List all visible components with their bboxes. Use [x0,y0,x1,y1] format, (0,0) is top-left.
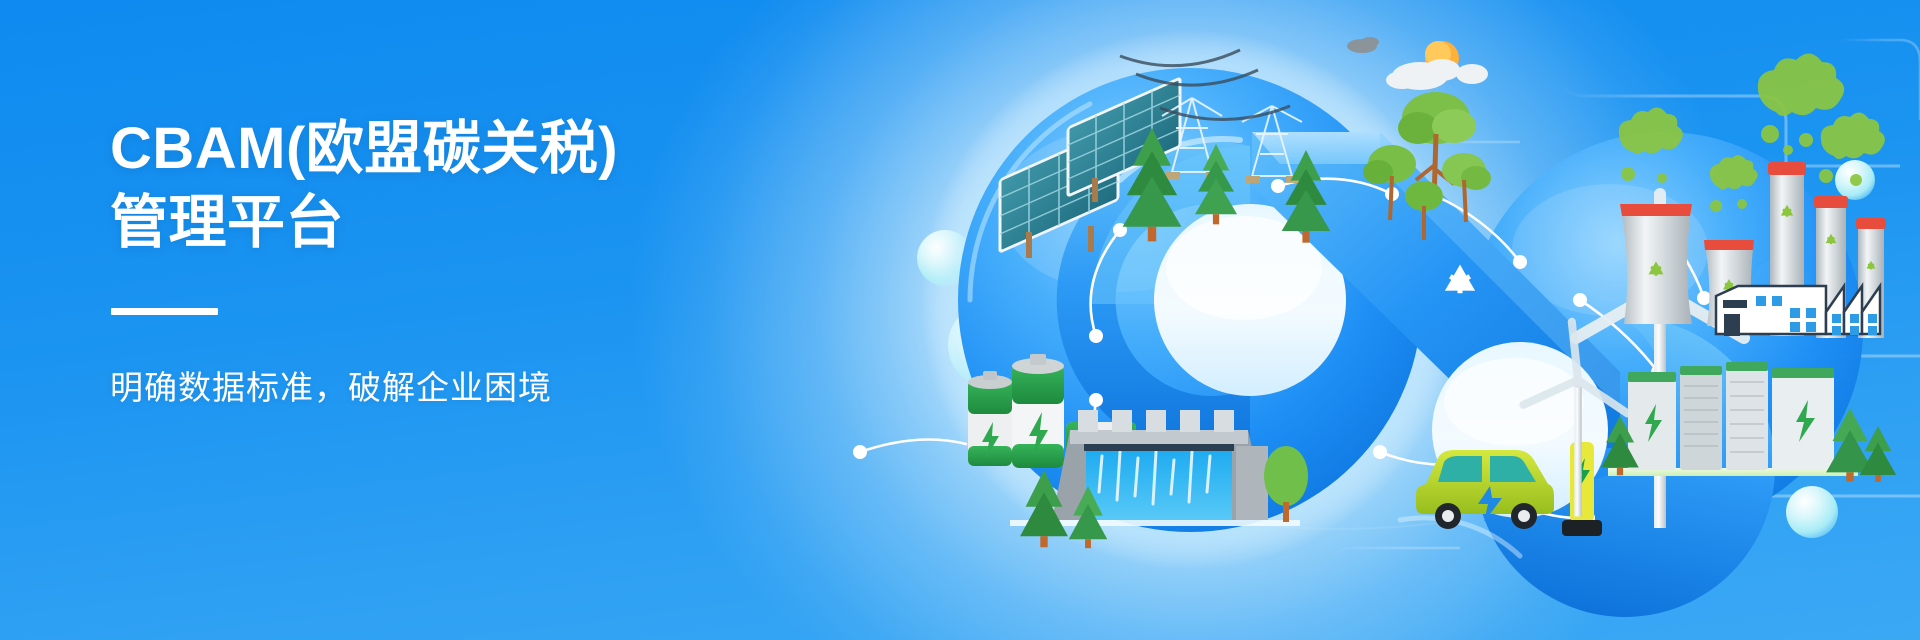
page-title-line-1: CBAM(欧盟碳关税) [110,112,830,186]
title-divider [111,308,218,315]
cloud-icon [1347,37,1488,90]
cbam-hero-banner: CBAM(欧盟碳关税) 管理平台 明确数据标准，破解企业困境 [0,0,1920,640]
green-energy-illustration [820,0,1920,640]
page-subtitle: 明确数据标准，破解企业困境 [110,365,830,411]
hero-text-block: CBAM(欧盟碳关税) 管理平台 明确数据标准，破解企业困境 [110,112,830,411]
factory-building-icon [1716,286,1880,336]
page-title-line-2: 管理平台 [110,186,830,260]
